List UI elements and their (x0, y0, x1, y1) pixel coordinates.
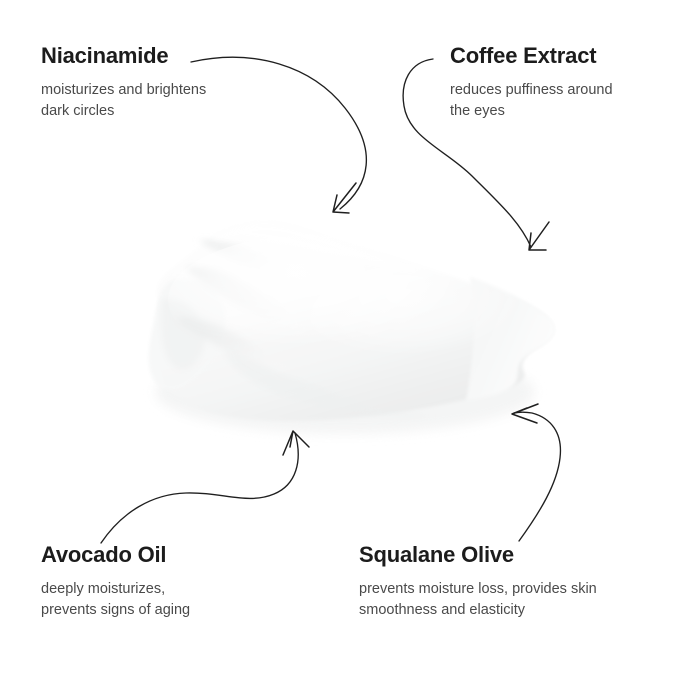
callout-title-niacinamide: Niacinamide (41, 44, 291, 68)
callout-coffee-extract: Coffee Extract reduces puffiness around … (450, 44, 650, 122)
callout-desc-line: moisturizes and brightens (41, 82, 206, 98)
callout-desc-line: dark circles (41, 103, 114, 119)
callout-desc-coffee-extract: reduces puffiness around the eyes (450, 80, 650, 122)
cream-gloss-right (310, 264, 530, 372)
callout-desc-squalane-olive: prevents moisture loss, provides skin sm… (359, 579, 639, 621)
callout-desc-line: smoothness and elasticity (359, 602, 525, 618)
callout-desc-avocado-oil: deeply moisturizes, prevents signs of ag… (41, 579, 291, 621)
infographic-canvas: Niacinamide moisturizes and brightens da… (0, 0, 679, 679)
callout-desc-niacinamide: moisturizes and brightens dark circles (41, 80, 291, 122)
callout-desc-line: reduces puffiness around (450, 82, 613, 98)
callout-desc-line: prevents signs of aging (41, 602, 190, 618)
callout-title-coffee-extract: Coffee Extract (450, 44, 650, 68)
callout-niacinamide: Niacinamide moisturizes and brightens da… (41, 44, 291, 122)
callout-desc-line: prevents moisture loss, provides skin (359, 581, 597, 597)
callout-title-squalane-olive: Squalane Olive (359, 543, 639, 567)
callout-avocado-oil: Avocado Oil deeply moisturizes, prevents… (41, 543, 291, 621)
callout-squalane-olive: Squalane Olive prevents moisture loss, p… (359, 543, 639, 621)
callout-title-avocado-oil: Avocado Oil (41, 543, 291, 567)
callout-desc-line: the eyes (450, 103, 505, 119)
callout-desc-line: deeply moisturizes, (41, 581, 165, 597)
